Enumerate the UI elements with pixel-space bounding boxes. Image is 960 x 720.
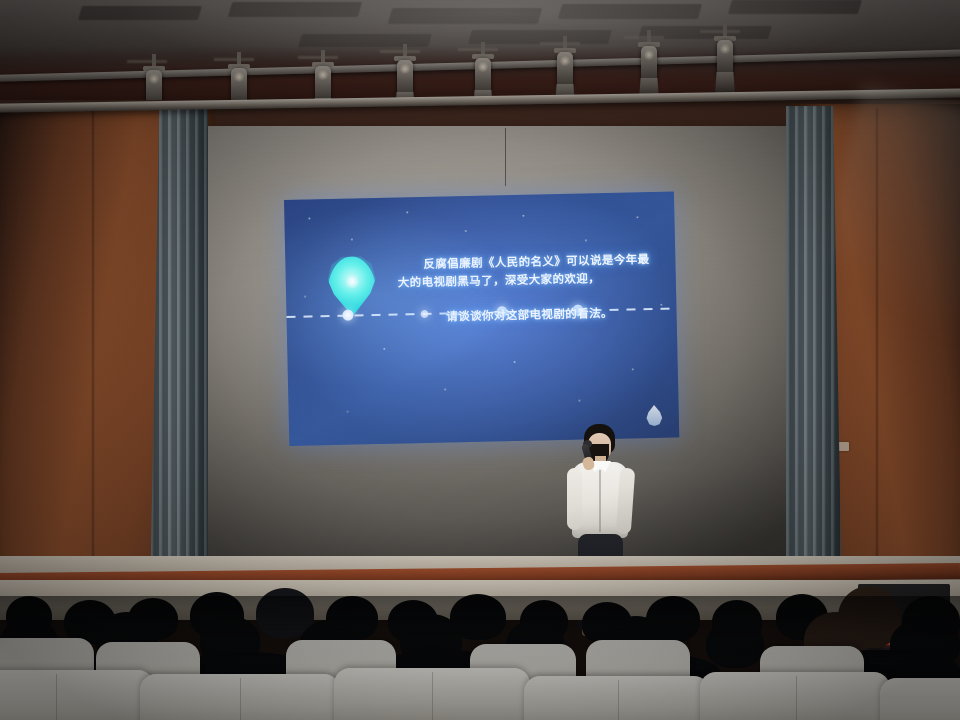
auditorium-scene: 反腐倡廉剧《人民的名义》可以说是今年最大的电视剧黑马了，深受大家的欢迎， 请谈谈… [0, 0, 960, 720]
left-arm [567, 468, 582, 530]
wall-outlet [838, 442, 849, 451]
seat-fold [56, 674, 57, 720]
wood-seam [876, 108, 878, 603]
seat-back [524, 676, 710, 720]
curtain-left [150, 106, 208, 606]
shirt-placket [599, 470, 601, 532]
audience-head [706, 620, 764, 668]
right-arm [616, 468, 636, 535]
seat-fold [240, 678, 241, 720]
seat-back [880, 678, 960, 720]
seat-fold [796, 676, 797, 720]
slide-paragraph-1: 反腐倡廉剧《人民的名义》可以说是今年最大的电视剧黑马了，深受大家的欢迎， [397, 250, 660, 292]
seat-fold [432, 672, 433, 720]
wood-seam [92, 108, 94, 603]
seat-back [0, 670, 154, 720]
screen-seam [505, 128, 506, 186]
curtain-right [786, 106, 842, 606]
seat-fold [618, 680, 619, 720]
projected-slide: 反腐倡廉剧《人民的名义》可以说是今年最大的电视剧黑马了，深受大家的欢迎， 请谈谈… [284, 191, 679, 445]
seat-back [700, 672, 890, 720]
map-pin-icon [327, 256, 376, 317]
slide-text-block: 反腐倡廉剧《人民的名义》可以说是今年最大的电视剧黑马了，深受大家的欢迎， 请谈谈… [397, 250, 660, 327]
